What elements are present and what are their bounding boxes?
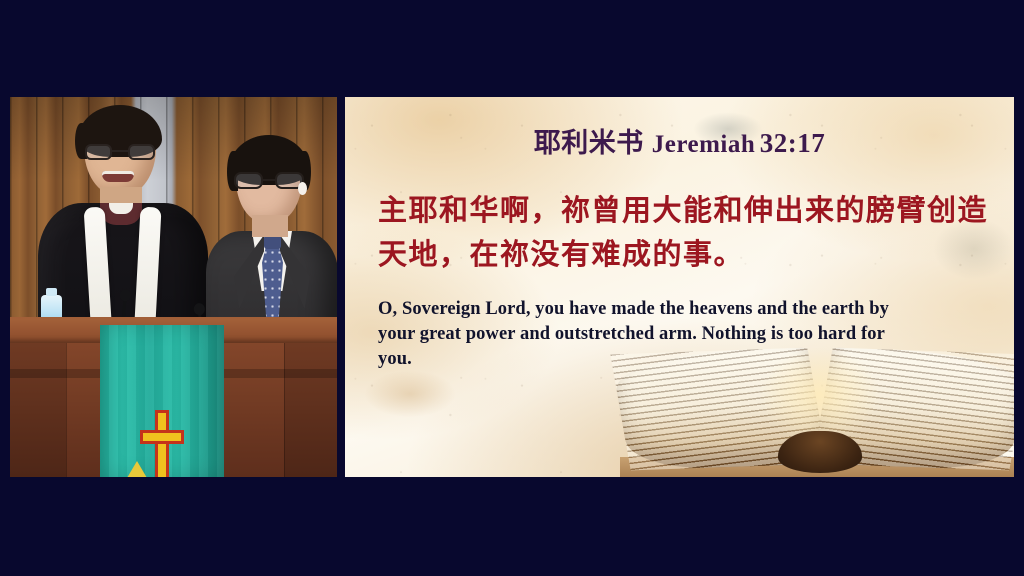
verse-reference-chapter-verse: 32:17 [760, 128, 826, 158]
pulpit-facet [10, 343, 66, 477]
verse-text-english: O, Sovereign Lord, you have made the hea… [378, 297, 906, 372]
verse-reference-book-cn: 耶利米书 [534, 128, 644, 158]
interpreter-glasses-icon [234, 172, 304, 189]
pulpit-facet [284, 343, 337, 477]
parchment-stain [365, 371, 455, 417]
pastor-mouth [102, 171, 134, 182]
pulpit-facet [222, 343, 284, 477]
pulpit-facet [66, 343, 100, 477]
interpreter-neck [252, 215, 288, 237]
verse-text-chinese: 主耶和华啊，祢曾用大能和伸出来的膀臂创造天地，在祢没有难成的事。 [378, 189, 994, 277]
verse-reference-book-en: Jeremiah [652, 131, 756, 158]
book-desk [620, 457, 1014, 477]
triangle-icon [127, 461, 147, 477]
wooden-pulpit [10, 317, 337, 477]
book-spine [778, 431, 862, 473]
interpreter-tie-knot [264, 235, 281, 249]
pulpit-cloth [100, 325, 224, 477]
verse-reference: 耶利米书Jeremiah 32:17 [345, 121, 1014, 160]
pastor-glasses-icon [85, 144, 155, 160]
screen: 耶利米书Jeremiah 32:17 主耶和华啊，祢曾用大能和伸出来的膀臂创造天… [0, 0, 1024, 576]
scripture-slide[interactable]: 耶利米书Jeremiah 32:17 主耶和华啊，祢曾用大能和伸出来的膀臂创造天… [345, 97, 1014, 477]
worship-service-video[interactable] [10, 97, 337, 477]
interpreter-earpiece-icon [298, 182, 307, 195]
